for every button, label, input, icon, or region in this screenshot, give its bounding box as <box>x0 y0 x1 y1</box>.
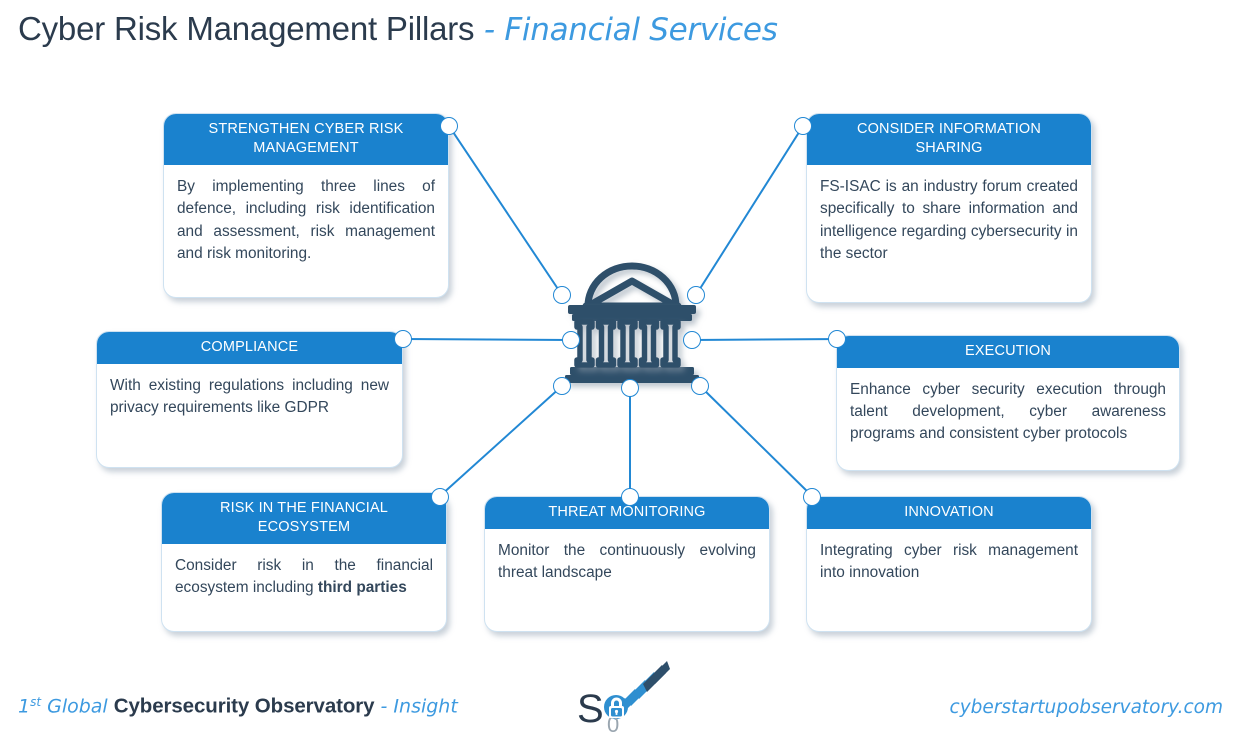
hub-node-upper-left[interactable] <box>553 286 571 304</box>
card-threat-monitoring[interactable]: THREAT MONITORING Monitor the continuous… <box>484 496 770 632</box>
hub-node-bottom-right[interactable] <box>691 377 709 395</box>
card-header-strengthen: STRENGTHEN CYBER RISK MANAGEMENT <box>164 114 448 165</box>
footer-brand-name: Cybersecurity Observatory <box>114 694 375 717</box>
footer-brand: 1st Global Cybersecurity Observatory - I… <box>18 696 458 717</box>
card-body-riskecosystem: Consider risk in the financial ecosystem… <box>162 544 446 631</box>
card-compliance[interactable]: COMPLIANCE With existing regulations inc… <box>96 331 403 468</box>
card-header-innovation: INNOVATION <box>807 497 1091 529</box>
footer-insight: - Insight <box>374 695 457 717</box>
footer-global: Global <box>41 695 114 717</box>
card-node-innovation[interactable] <box>803 488 821 506</box>
card-consider-information-sharing[interactable]: CONSIDER INFORMATION SHARING FS-ISAC is … <box>806 113 1092 303</box>
card-strengthen-cyber-risk-management[interactable]: STRENGTHEN CYBER RISK MANAGEMENT By impl… <box>163 113 449 298</box>
title-separator: - <box>474 12 504 48</box>
card-body-threatmonitoring: Monitor the continuously evolving threat… <box>485 529 769 631</box>
card-node-compliance[interactable] <box>394 330 412 348</box>
card-body-execution: Enhance cyber security execution through… <box>837 368 1179 470</box>
card-header-compliance: COMPLIANCE <box>97 332 402 364</box>
card-node-execution[interactable] <box>828 330 846 348</box>
card-header-execution: EXECUTION <box>837 336 1179 368</box>
link-execution <box>692 339 845 340</box>
diagram-canvas: Cyber Risk Management Pillars - Financia… <box>0 0 1245 743</box>
card-risk-in-the-financial-ecosystem[interactable]: RISK IN THE FINANCIAL ECOSYSTEM Consider… <box>161 492 447 632</box>
card-header-riskecosystem: RISK IN THE FINANCIAL ECOSYSTEM <box>162 493 446 544</box>
link-compliance <box>403 339 571 340</box>
card-body-compliance: With existing regulations including new … <box>97 364 402 467</box>
card-innovation[interactable]: INNOVATION Integrating cyber risk manage… <box>806 496 1092 632</box>
card-body-infosharing: FS-ISAC is an industry forum created spe… <box>807 165 1091 302</box>
hub-node-upper-right[interactable] <box>687 286 705 304</box>
hub-node-bottom-left[interactable] <box>553 377 571 395</box>
card-header-infosharing: CONSIDER INFORMATION SHARING <box>807 114 1091 165</box>
logo-letter-s: S <box>577 687 604 731</box>
card-node-strengthen[interactable] <box>440 117 458 135</box>
card-node-riskecosystem[interactable] <box>431 488 449 506</box>
footer-ordinal-suffix: st <box>30 695 41 709</box>
cyberstartup-observatory-logo: S 0 <box>575 650 671 738</box>
link-innovation <box>700 386 812 496</box>
title-subtitle: Financial Services <box>504 12 777 48</box>
hub-node-bottom-center[interactable] <box>621 379 639 397</box>
hub-node-mid-left[interactable] <box>562 331 580 349</box>
footer-website: cyberstartupobservatory.com <box>950 699 1223 718</box>
card-body-innovation: Integrating cyber risk management into i… <box>807 529 1091 631</box>
link-infosharing <box>696 126 803 295</box>
card-node-threatmonitoring[interactable] <box>621 488 639 506</box>
page-title: Cyber Risk Management Pillars - Financia… <box>18 12 778 46</box>
hub-node-mid-right[interactable] <box>683 331 701 349</box>
link-riskecosystem <box>440 386 562 496</box>
link-strengthen <box>449 126 562 295</box>
bank-temple-icon <box>556 248 708 394</box>
riskecosystem-text-bold: third parties <box>318 579 407 596</box>
footer-ordinal: 1 <box>18 695 30 717</box>
card-node-infosharing[interactable] <box>794 117 812 135</box>
card-body-strengthen: By implementing three lines of defence, … <box>164 165 448 297</box>
card-execution[interactable]: EXECUTION Enhance cyber security executi… <box>836 335 1180 471</box>
title-main: Cyber Risk Management Pillars <box>18 10 474 47</box>
